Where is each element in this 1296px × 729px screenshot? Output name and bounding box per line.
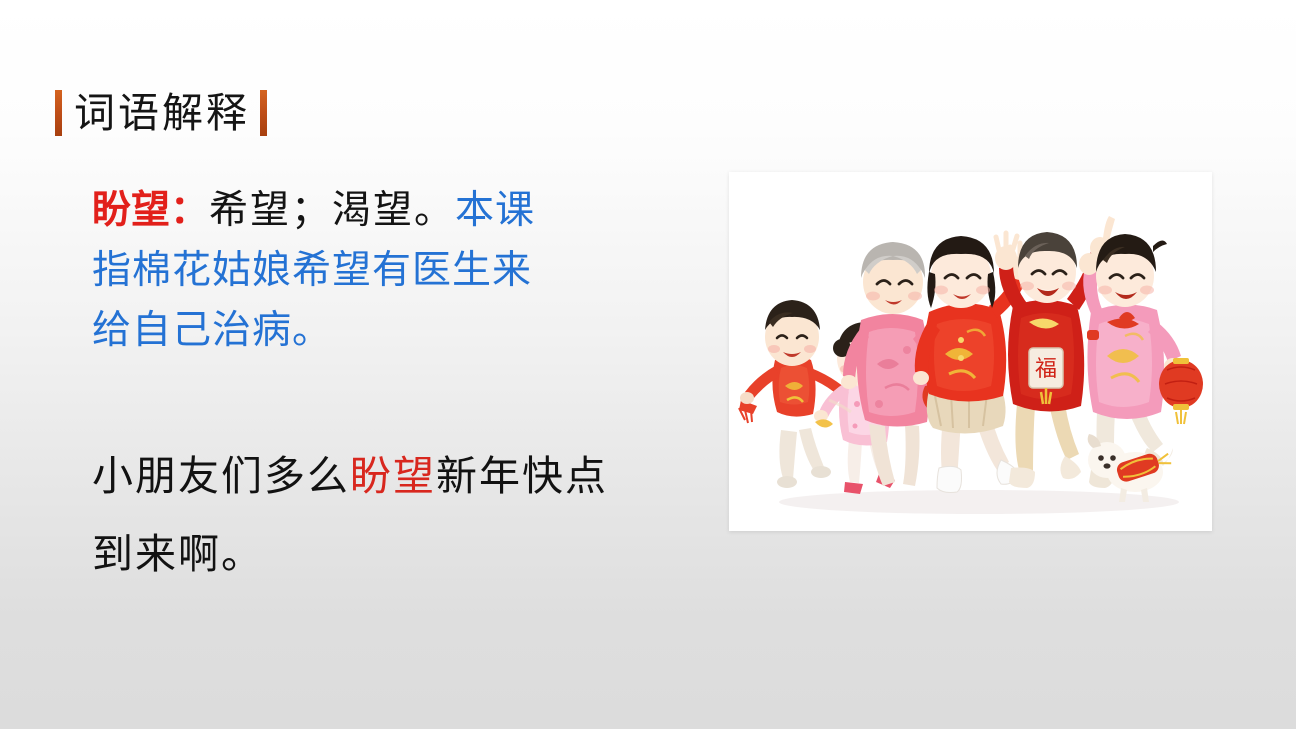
fu-character: 福 — [1035, 357, 1057, 382]
chinese-new-year-illustration: 福 — [729, 172, 1212, 531]
example-line-1: 小朋友们多么盼望新年快点 — [92, 437, 712, 515]
definition-block: 盼望：希望；渴望。本课 指棉花姑娘希望有医生来 给自己治病。 — [92, 180, 677, 361]
definition-term: 盼望： — [92, 187, 209, 233]
slide-root: 词语解释 盼望：希望；渴望。本课 指棉花姑娘希望有医生来 给自己治病。 小朋友们… — [0, 0, 1296, 729]
example-line-2: 到来啊。 — [92, 515, 712, 593]
definition-line-2: 指棉花姑娘希望有医生来 — [92, 241, 677, 301]
page-title: 词语解释 — [55, 84, 267, 142]
title-accent-bar-right — [260, 90, 267, 136]
definition-line-1: 盼望：希望；渴望。本课 — [92, 180, 677, 241]
page-title-text: 词语解释 — [74, 93, 250, 134]
definition-line-3: 给自己治病。 — [92, 301, 677, 361]
illustration-svg: 福 — [729, 172, 1212, 531]
example-text-before: 小朋友们多么 — [92, 452, 350, 500]
example-block: 小朋友们多么盼望新年快点 到来啊。 — [92, 437, 712, 593]
definition-context-lead: 本课 — [455, 188, 535, 233]
example-highlight-word: 盼望 — [350, 452, 436, 500]
title-accent-bar-left — [55, 90, 62, 136]
example-text-after: 新年快点 — [436, 452, 608, 500]
definition-gloss: 希望；渴望。 — [209, 188, 455, 233]
